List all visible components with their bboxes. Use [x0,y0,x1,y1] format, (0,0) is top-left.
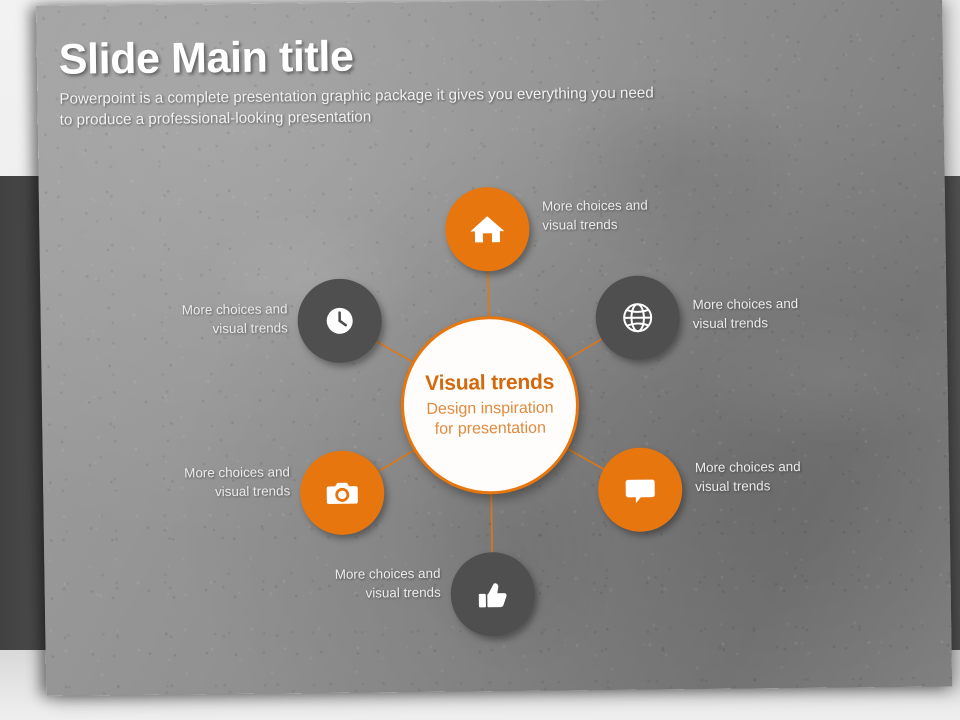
node-label-clock: More choices and visual trends [137,299,288,339]
slide-surface: Slide Main title Powerpoint is a complet… [36,0,952,696]
hub-subtitle-line-1: Design inspiration [426,398,553,419]
node-label-globe-line-1: More choices and [692,294,842,315]
node-label-clock-line-2: visual trends [138,318,288,339]
node-clock[interactable] [297,278,382,363]
node-thumbs-up[interactable] [450,552,535,637]
node-globe[interactable] [595,275,680,360]
globe-icon [618,299,657,337]
slide-panel: Slide Main title Powerpoint is a complet… [36,0,952,696]
camera-icon [323,474,362,512]
node-label-camera-line-1: More choices and [140,462,290,483]
node-label-home-line-1: More choices and [542,195,692,216]
page-subtitle: Powerpoint is a complete presentation gr… [59,83,760,132]
node-label-globe-line-2: visual trends [693,313,843,334]
node-label-clock-line-1: More choices and [137,299,287,320]
node-label-chat: More choices and visual trends [695,457,846,497]
node-label-thumbs-up-line-2: visual trends [291,583,441,604]
node-label-chat-line-1: More choices and [695,457,845,478]
hub-subtitle: Design inspiration for presentation [426,398,554,440]
page-title: Slide Main title [58,30,819,83]
node-label-camera-line-2: visual trends [140,481,290,502]
node-camera[interactable] [300,450,385,535]
node-label-camera: More choices and visual trends [140,462,291,502]
node-chat[interactable] [598,447,683,532]
thumbs-up-icon [473,575,512,613]
home-icon [467,209,508,249]
slide-canvas: Slide Main title Powerpoint is a complet… [0,0,960,720]
node-label-globe: More choices and visual trends [692,294,843,334]
node-home[interactable] [445,187,530,272]
node-label-home-line-2: visual trends [542,214,692,235]
clock-icon [320,302,359,340]
hub-subtitle-line-2: for presentation [427,419,554,440]
node-label-thumbs-up: More choices and visual trends [290,564,441,604]
center-hub[interactable]: Visual trends Design inspiration for pre… [400,315,581,495]
node-label-thumbs-up-line-1: More choices and [290,564,440,585]
node-label-chat-line-2: visual trends [695,476,845,497]
hub-title: Visual trends [425,370,554,395]
node-label-home: More choices and visual trends [542,195,693,235]
slide-header: Slide Main title Powerpoint is a complet… [58,30,819,132]
chat-bubble-icon [621,470,660,508]
